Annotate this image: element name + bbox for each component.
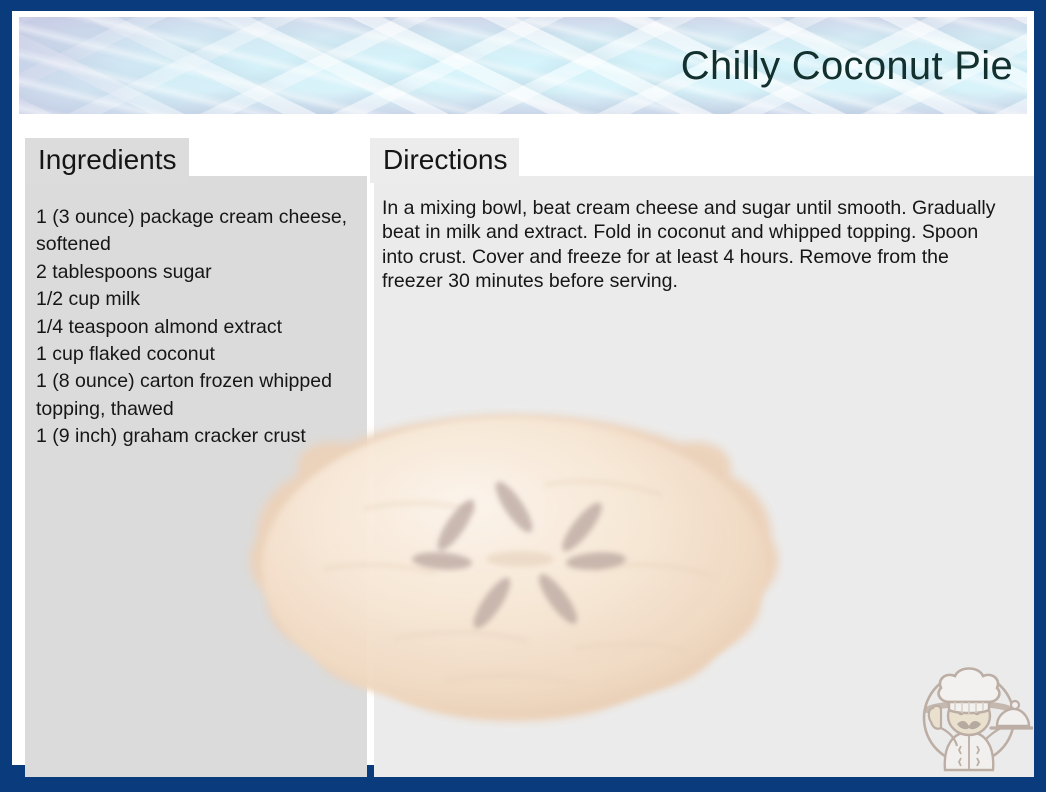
header-banner: Chilly Coconut Pie (19, 17, 1027, 114)
list-item: 2 tablespoons sugar (36, 259, 366, 286)
tab-ingredients[interactable]: Ingredients (25, 138, 189, 183)
pie-illustration (244, 399, 784, 739)
chef-arm-right (985, 728, 1001, 740)
recipe-page: Chilly Coconut Pie Ingredients 1 (3 ounc… (12, 11, 1034, 765)
list-item: 1 (3 ounce) package cream cheese, soften… (36, 204, 366, 259)
chef-logo-watermark (905, 648, 1033, 776)
chef-raised-hand (929, 706, 941, 729)
chef-toque (939, 669, 1000, 703)
recipe-card: Chilly Coconut Pie Ingredients 1 (3 ounc… (0, 0, 1046, 792)
directions-text: In a mixing bowl, beat cream cheese and … (382, 196, 1010, 294)
tab-directions[interactable]: Directions (370, 138, 519, 183)
cloche-knob (1011, 701, 1019, 709)
pie-center-dimple (486, 551, 554, 567)
pie-top-highlight (277, 421, 727, 677)
list-item: 1 cup flaked coconut (36, 341, 366, 368)
page-title: Chilly Coconut Pie (681, 46, 1013, 86)
list-item: 1/4 teaspoon almond extract (36, 314, 366, 341)
list-item: 1/2 cup milk (36, 286, 366, 313)
